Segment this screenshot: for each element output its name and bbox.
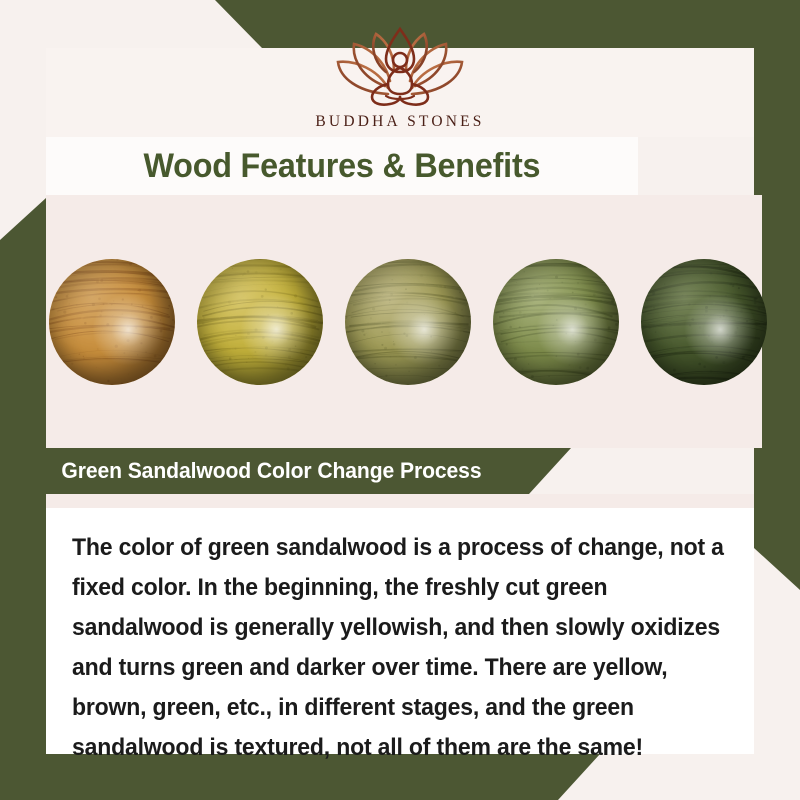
bead-stage-3	[345, 259, 471, 385]
page-title: Wood Features & Benefits	[144, 147, 541, 186]
bead-gallery	[46, 195, 762, 448]
section-banner-label: Green Sandalwood Color Change Process	[46, 458, 481, 484]
bead-stage-2	[197, 259, 323, 385]
brand-header: BUDDHA STONES	[46, 48, 754, 137]
description-text: The color of green sandalwood is a proce…	[72, 528, 726, 768]
description-card: The color of green sandalwood is a proce…	[46, 508, 754, 754]
banner-gap	[46, 494, 754, 508]
brand-name: BUDDHA STONES	[315, 113, 484, 131]
bead-shading	[493, 259, 619, 385]
bead-shading	[49, 259, 175, 385]
bead-stage-5	[641, 259, 767, 385]
frame-left-accent	[0, 198, 46, 800]
lotus-meditation-icon	[330, 26, 470, 112]
bead-shading	[641, 259, 767, 385]
bead-stage-4	[493, 259, 619, 385]
bead-shading	[345, 259, 471, 385]
section-banner: Green Sandalwood Color Change Process	[46, 448, 571, 494]
poster: BUDDHA STONES Wood Features & Benefits G…	[0, 0, 800, 800]
headline-strip: Wood Features & Benefits	[46, 137, 638, 195]
bead-shading	[197, 259, 323, 385]
bead-stage-1	[49, 259, 175, 385]
